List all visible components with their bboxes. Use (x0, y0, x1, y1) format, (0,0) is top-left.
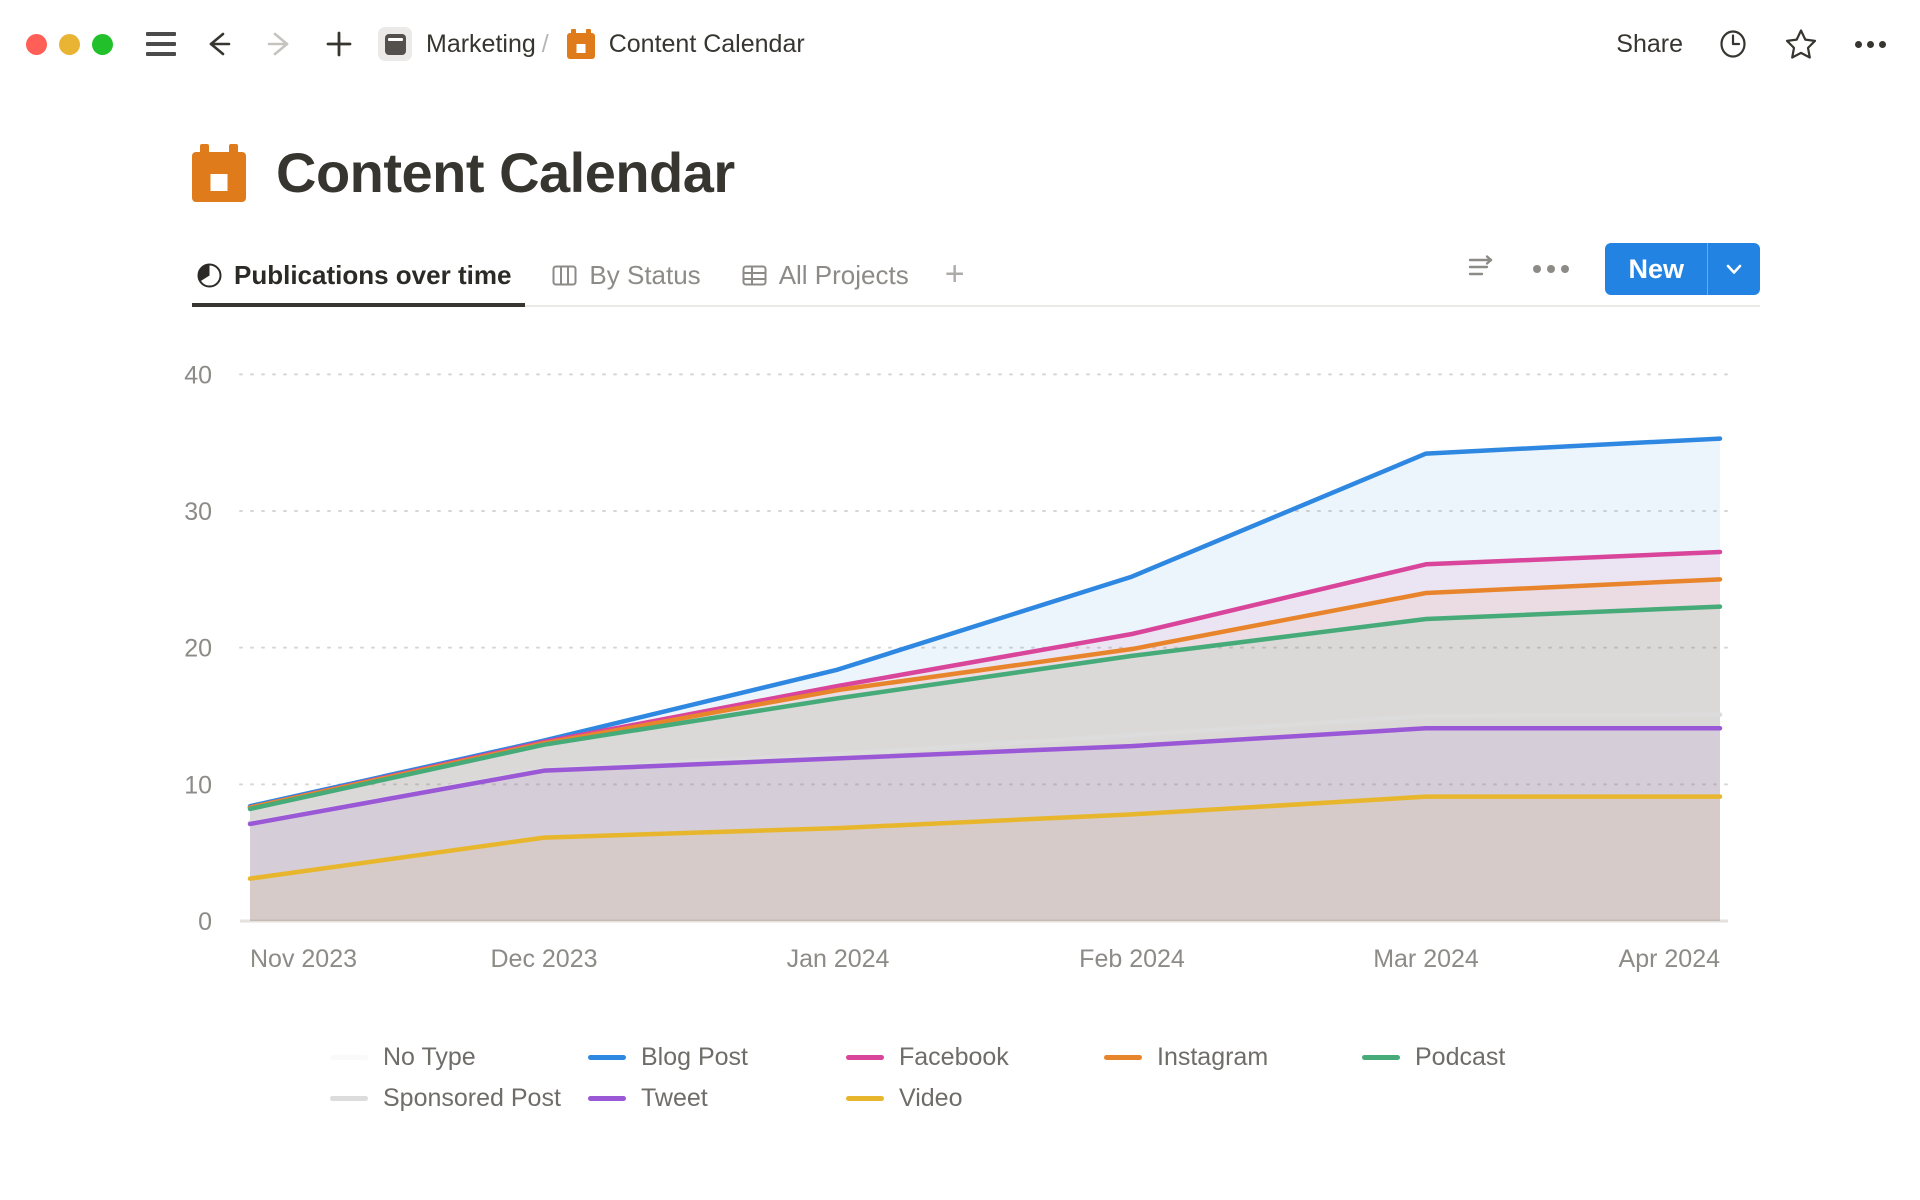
legend-label: Sponsored Post (383, 1084, 561, 1113)
calendar-icon (192, 144, 246, 202)
plus-icon[interactable] (322, 27, 356, 61)
chevron-down-icon[interactable] (1708, 243, 1760, 295)
arrow-right-icon[interactable] (262, 27, 296, 61)
hamburger-icon[interactable] (146, 32, 176, 56)
star-icon[interactable] (1783, 26, 1819, 62)
tab-by-status[interactable]: By Status (547, 260, 714, 305)
x-axis-tick-label: Apr 2024 (1619, 945, 1721, 973)
legend-swatch (846, 1055, 884, 1060)
legend-label: Podcast (1415, 1043, 1505, 1072)
legend-item[interactable]: Instagram (1104, 1043, 1362, 1072)
legend-label: Instagram (1157, 1043, 1268, 1072)
tab-publications-over-time[interactable]: Publications over time (192, 260, 525, 305)
view-tab-bar: Publications over time By Status All Pro… (192, 245, 1760, 307)
app-window: Marketing / Content Calendar Share Conte… (0, 0, 1920, 1200)
share-button[interactable]: Share (1616, 30, 1683, 59)
legend-swatch (330, 1096, 368, 1101)
x-axis-tick-label: Feb 2024 (1079, 945, 1185, 973)
chart-pie-icon (196, 262, 223, 289)
close-button[interactable] (26, 34, 47, 55)
breadcrumb-separator: / (542, 30, 549, 59)
legend-item[interactable]: Tweet (588, 1084, 846, 1113)
legend-item[interactable]: Video (846, 1084, 1104, 1113)
filter-icon[interactable] (1465, 250, 1499, 289)
x-axis-tick-label: Nov 2023 (250, 945, 357, 973)
page-content: Content Calendar Publications over time … (0, 140, 1920, 1113)
y-axis-tick-label: 30 (184, 498, 212, 526)
board-icon (551, 262, 578, 289)
legend-swatch (588, 1096, 626, 1101)
legend-swatch (588, 1055, 626, 1060)
maximize-button[interactable] (92, 34, 113, 55)
y-axis-tick-label: 40 (184, 361, 212, 389)
minimize-button[interactable] (59, 34, 80, 55)
tab-label: By Status (589, 260, 700, 291)
more-horizontal-icon[interactable] (1533, 265, 1569, 273)
chart-legend: No TypeBlog PostFacebookInstagramPodcast… (330, 1043, 1620, 1113)
title-bar: Marketing / Content Calendar Share (0, 0, 1920, 88)
tab-label: Publications over time (234, 260, 511, 291)
legend-swatch (1362, 1055, 1400, 1060)
x-axis-tick-label: Dec 2023 (490, 945, 597, 973)
legend-swatch (846, 1096, 884, 1101)
arrow-left-icon[interactable] (202, 27, 236, 61)
x-axis-tick-label: Jan 2024 (787, 945, 890, 973)
page-icon[interactable] (378, 27, 412, 61)
clock-icon[interactable] (1716, 27, 1750, 61)
legend-swatch (1104, 1055, 1142, 1060)
chart-container: 010203040Nov 2023Dec 2023Jan 2024Feb 202… (0, 329, 1920, 1029)
new-button-group: New (1605, 243, 1760, 295)
legend-label: Video (899, 1084, 963, 1113)
legend-label: Tweet (641, 1084, 708, 1113)
legend-item[interactable]: Sponsored Post (330, 1084, 588, 1113)
page-title-row: Content Calendar (192, 140, 1920, 205)
y-axis-tick-label: 10 (184, 771, 212, 799)
legend-label: Blog Post (641, 1043, 748, 1072)
breadcrumb-workspace[interactable]: Marketing (426, 30, 536, 59)
tab-all-projects[interactable]: All Projects (737, 260, 923, 305)
legend-item[interactable]: Blog Post (588, 1043, 846, 1072)
legend-label: No Type (383, 1043, 476, 1072)
new-button[interactable]: New (1605, 243, 1707, 295)
breadcrumb-page[interactable]: Content Calendar (609, 30, 805, 59)
view-toolbar: New (1465, 243, 1760, 305)
calendar-icon (567, 29, 595, 59)
add-view-button[interactable]: + (945, 257, 965, 305)
legend-item[interactable]: Facebook (846, 1043, 1104, 1072)
tab-label: All Projects (779, 260, 909, 291)
window-controls (26, 34, 113, 55)
legend-label: Facebook (899, 1043, 1009, 1072)
page-title: Content Calendar (276, 140, 735, 205)
x-axis-tick-label: Mar 2024 (1373, 945, 1479, 973)
more-horizontal-icon[interactable] (1855, 41, 1886, 48)
y-axis-tick-label: 20 (184, 635, 212, 663)
legend-item[interactable]: Podcast (1362, 1043, 1620, 1072)
publications-area-chart: 010203040Nov 2023Dec 2023Jan 2024Feb 202… (0, 329, 1920, 1029)
y-axis-tick-label: 0 (198, 908, 212, 936)
legend-swatch (330, 1055, 368, 1060)
legend-item[interactable]: No Type (330, 1043, 588, 1072)
table-icon (741, 262, 768, 289)
